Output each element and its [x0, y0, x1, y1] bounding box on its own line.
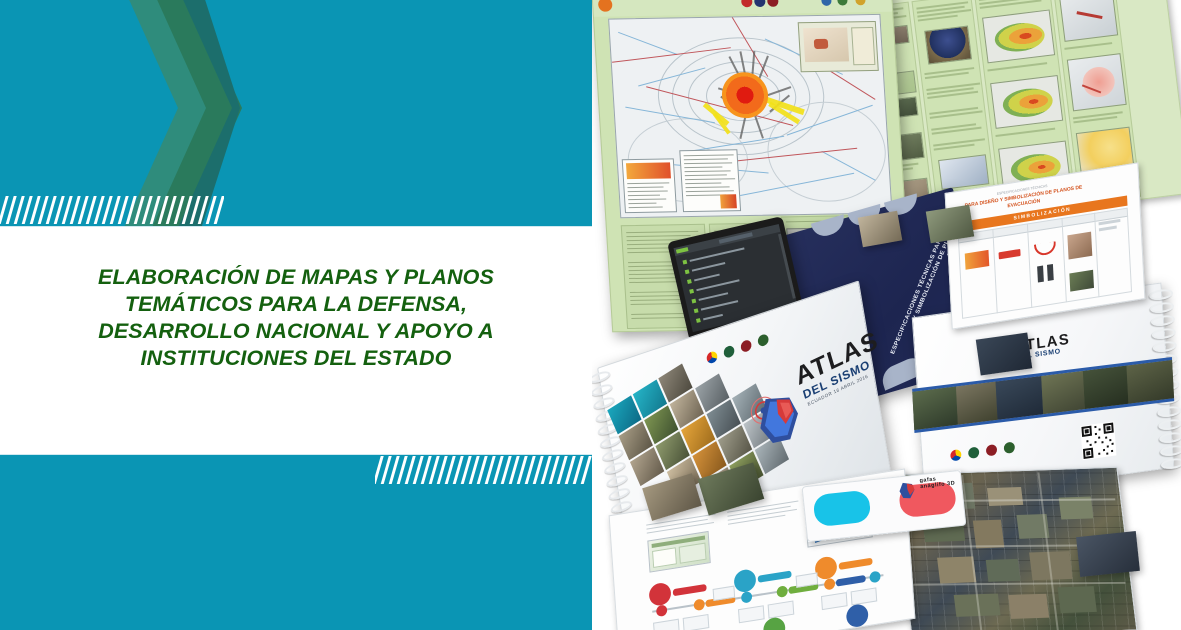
photo-tile: [1076, 531, 1140, 577]
cover-photo-strip: [912, 357, 1174, 433]
partner-logos: [950, 441, 1015, 461]
hatch-lines-top: [0, 196, 224, 224]
flow-node: [648, 582, 671, 607]
map-legend: [622, 158, 677, 213]
slide-title: ELABORACIÓN DE MAPAS Y PLANOS TEMÁTICOS …: [56, 264, 536, 372]
product-photo-collage: ESPECIFICACIONES TÉCNICAS PARA DISEÑO Y …: [592, 0, 1181, 630]
hazard-map-body: [608, 14, 892, 218]
photo-tile: [976, 333, 1033, 376]
left-decorative-panel: ELABORACIÓN DE MAPAS Y PLANOS TEMÁTICOS …: [0, 0, 592, 630]
hatch-lines-bottom: [375, 456, 592, 484]
chevron-svg: [0, 0, 300, 226]
map-inset: [798, 21, 879, 72]
photo-tile: [926, 205, 974, 243]
screenshot-thumbnail: [647, 531, 710, 573]
chevron-group: [0, 0, 592, 226]
glasses-atlas-logo: [898, 479, 922, 506]
slide-canvas: ELABORACIÓN DE MAPAS Y PLANOS TEMÁTICOS …: [0, 0, 1181, 630]
qr-code: [1080, 421, 1116, 460]
